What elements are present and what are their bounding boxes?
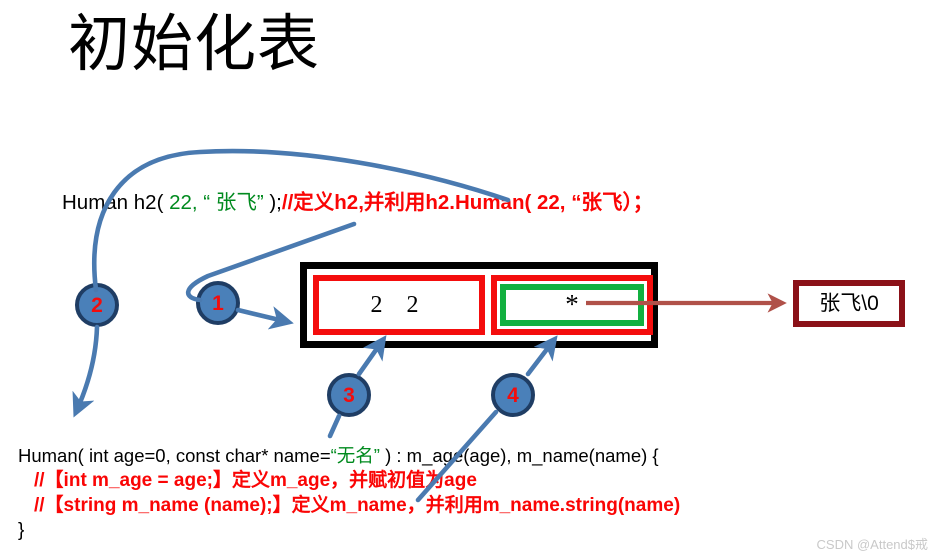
memory-field-m-age-value: 2 2 [371,292,428,319]
code-constructor-default-value: “无名” [331,445,380,466]
code-constructor-signature-post: ) : m_age(age), m_name(name) { [380,445,659,466]
callout-marker-3[interactable]: 3 [327,373,371,417]
csdn-watermark: CSDN @Attend$戒 [817,534,928,553]
code-constructor-closing-brace: } [18,518,680,543]
slide-canvas: 初始化表 Human h2( 22, “ 张飞” );//定义h2,并利用h2.… [0,0,938,559]
callout-marker-1-label: 1 [212,293,224,314]
code-declaration-comment: //定义h2,并利用h2.Human( 22, “张飞）； [282,191,653,214]
callout-marker-2[interactable]: 2 [75,283,119,327]
code-constructor-signature: Human( int age=0, const char* name=“无名” … [18,443,680,468]
code-constructor-comment-2: //【string m_name (name);】定义m_name，并利用m_n… [18,493,680,518]
code-block-constructor: Human( int age=0, const char* name=“无名” … [18,443,680,543]
callout-marker-3-label: 3 [343,385,355,406]
callout-marker-4[interactable]: 4 [491,373,535,417]
connector-callout-1-to-memory [238,310,288,322]
callout-marker-2-label: 2 [91,295,103,316]
heap-string-value: 张飞\0 [819,293,879,314]
memory-field-m-age: 2 2 [313,275,485,335]
memory-field-m-name: * [491,275,653,335]
heap-string-box: 张飞\0 [793,280,905,327]
code-constructor-signature-pre: Human( int age=0, const char* name= [18,445,331,466]
memory-field-m-name-inner: * [500,284,644,326]
memory-field-m-name-value: * [565,291,579,318]
code-declaration-prefix: Human h2( [62,191,169,214]
callout-marker-4-label: 4 [507,385,519,406]
connector-callout-2-down [76,327,97,412]
code-line-declaration: Human h2( 22, “ 张飞” );//定义h2,并利用h2.Human… [62,193,653,214]
object-memory-block: 2 2 * [300,262,658,348]
code-declaration-args: 22, “ 张飞” [169,191,264,214]
code-declaration-suffix: ); [264,191,282,214]
page-title: 初始化表 [68,12,320,77]
callout-marker-1[interactable]: 1 [196,281,240,325]
code-constructor-comment-1: //【int m_age = age;】定义m_age，并赋初值为age [18,468,680,493]
connector-callout-3-tail [330,416,339,436]
